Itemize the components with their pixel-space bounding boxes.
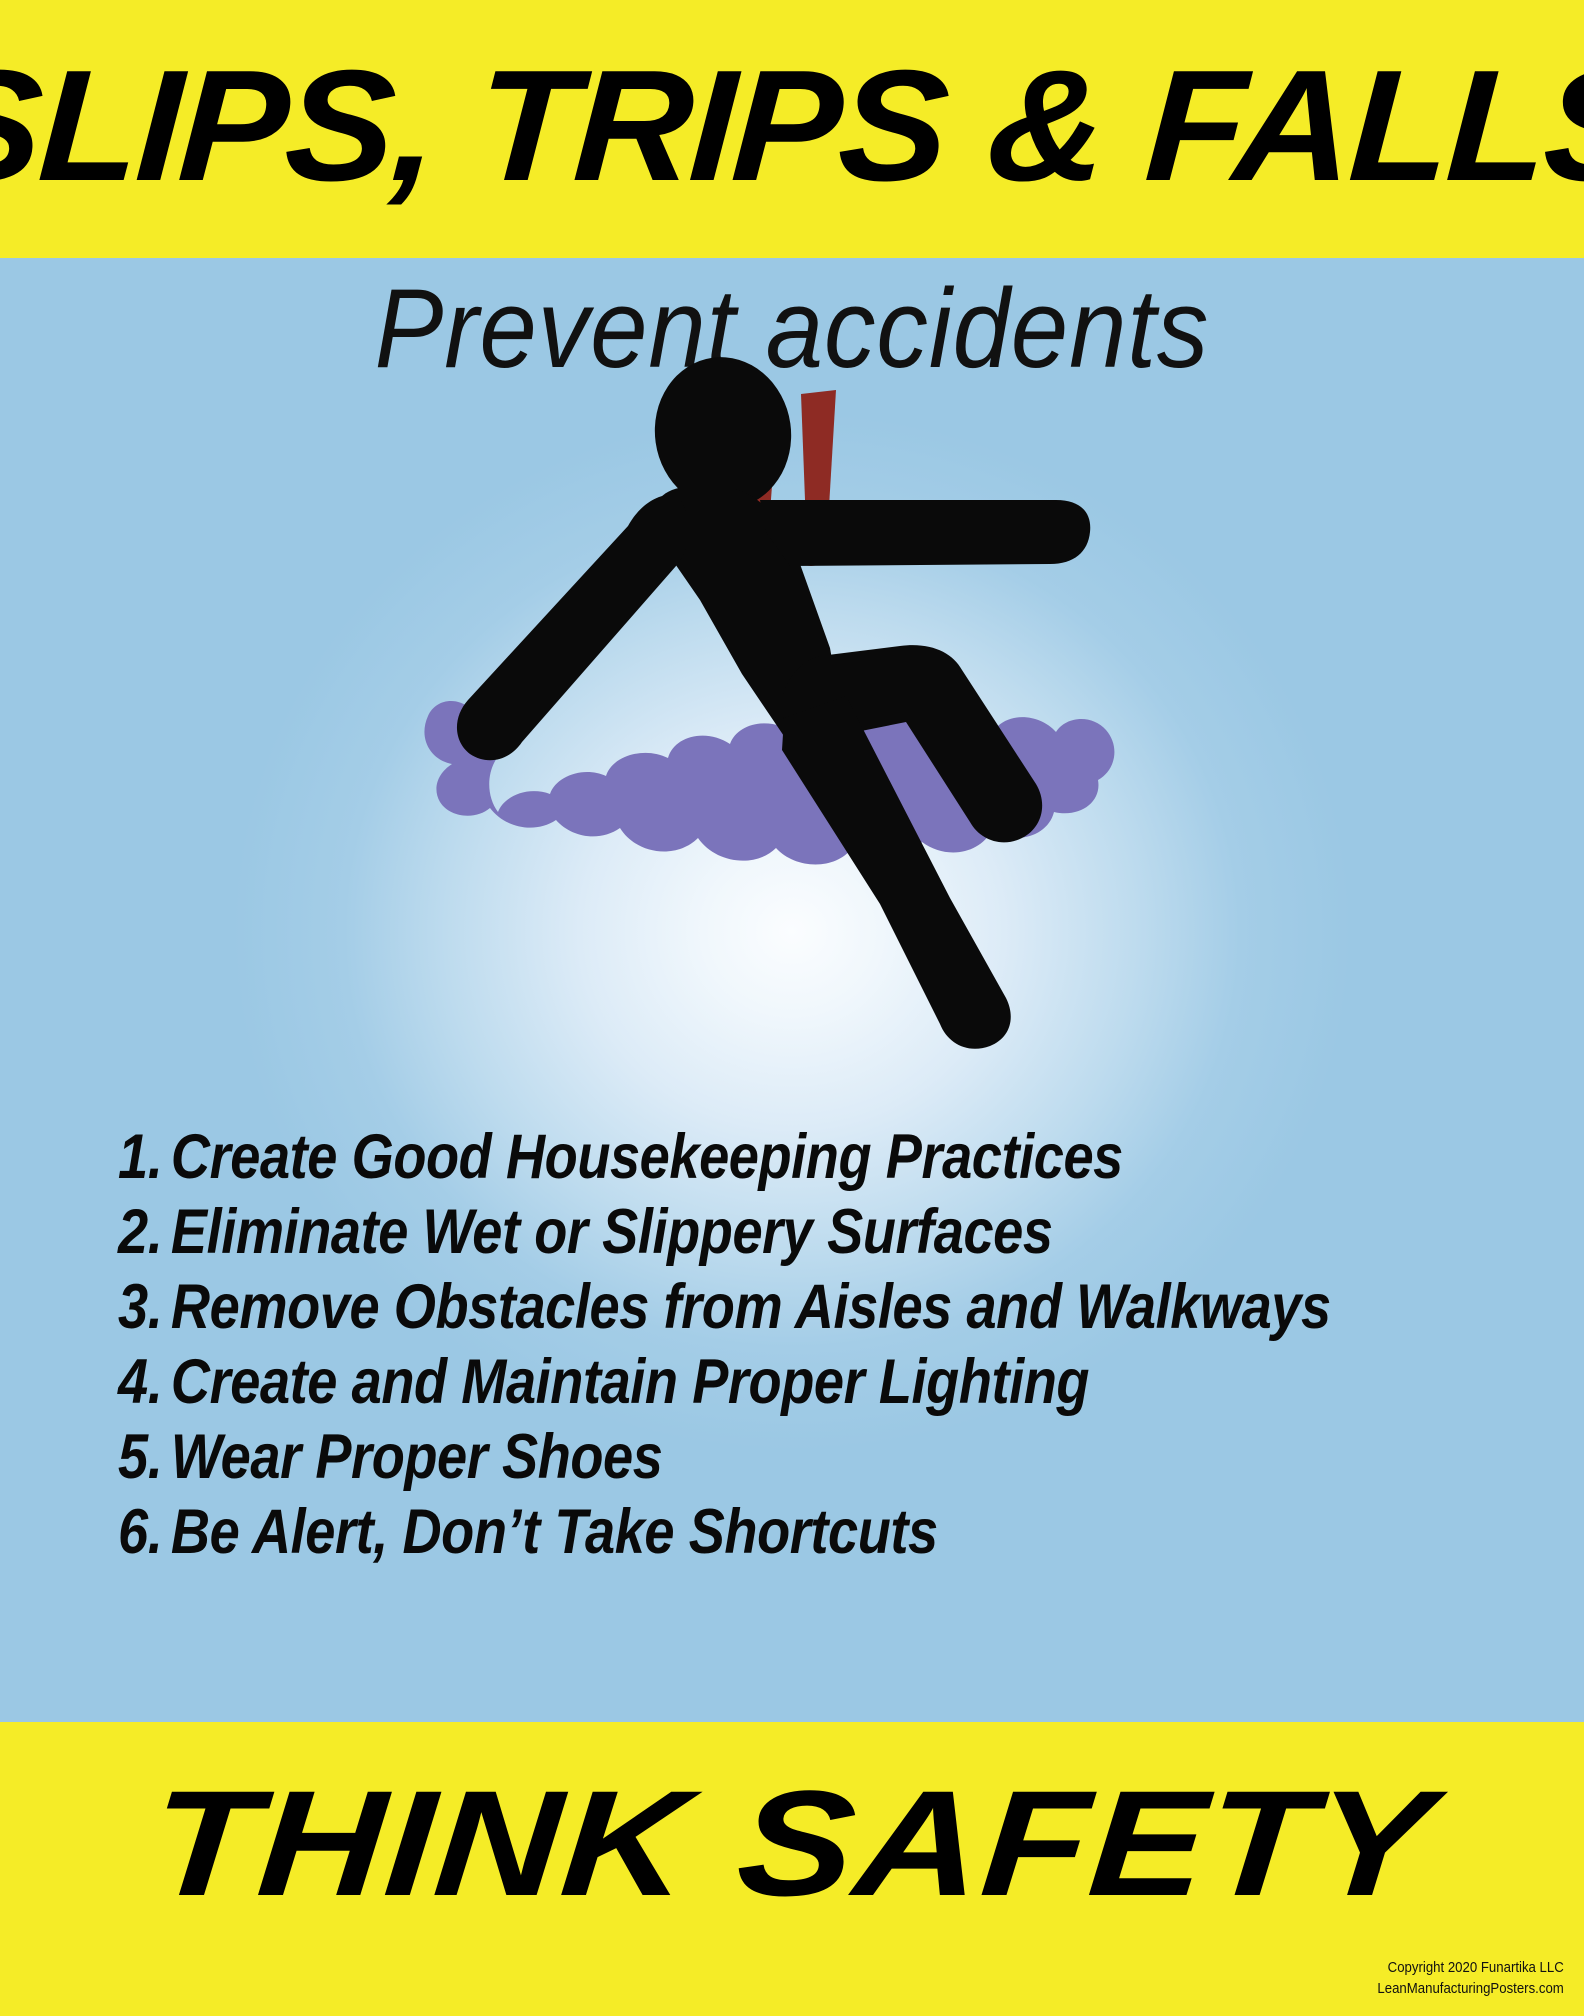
list-item: 1.Create Good Housekeeping Practices [118, 1120, 1322, 1195]
list-item-number: 5. [118, 1420, 162, 1495]
list-item-number: 3. [118, 1270, 162, 1345]
copyright-line-2: LeanManufacturingPosters.com [1378, 1978, 1564, 2000]
list-item-label: Remove Obstacles from Aisles and Walkway… [171, 1272, 1331, 1342]
safety-tips-list: 1.Create Good Housekeeping Practices 2.E… [118, 1120, 1518, 1570]
list-item: 4.Create and Maintain Proper Lighting [118, 1345, 1322, 1420]
footer-slogan: THINK SAFETY [146, 1768, 1438, 1918]
list-item-number: 6. [118, 1495, 162, 1570]
footer-banner: THINK SAFETY [0, 1722, 1584, 2016]
list-item: 3.Remove Obstacles from Aisles and Walkw… [118, 1270, 1322, 1345]
falling-person-figure [457, 348, 1090, 1048]
list-item: 6.Be Alert, Don’t Take Shortcuts [118, 1495, 1322, 1570]
copyright-notice: Copyright 2020 Funartika LLC LeanManufac… [1378, 1957, 1564, 2001]
list-item-number: 4. [118, 1345, 162, 1420]
list-item-number: 1. [118, 1120, 162, 1195]
safety-poster: SLIPS, TRIPS & FALLS Prevent accidents [0, 0, 1584, 2016]
slip-hazard-illustration [0, 318, 1584, 1148]
list-item: 2.Eliminate Wet or Slippery Surfaces [118, 1195, 1322, 1270]
poster-body: Prevent accidents [0, 258, 1584, 1722]
list-item-label: Create and Maintain Proper Lighting [171, 1347, 1089, 1417]
list-item-number: 2. [118, 1195, 162, 1270]
page-title: SLIPS, TRIPS & FALLS [0, 47, 1584, 205]
list-item-label: Eliminate Wet or Slippery Surfaces [171, 1197, 1053, 1267]
list-item-label: Wear Proper Shoes [171, 1422, 663, 1492]
list-item-label: Be Alert, Don’t Take Shortcuts [171, 1497, 938, 1567]
copyright-line-1: Copyright 2020 Funartika LLC [1378, 1957, 1564, 1979]
list-item-label: Create Good Housekeeping Practices [171, 1122, 1123, 1192]
list-item: 5.Wear Proper Shoes [118, 1420, 1322, 1495]
title-banner: SLIPS, TRIPS & FALLS [0, 0, 1584, 258]
